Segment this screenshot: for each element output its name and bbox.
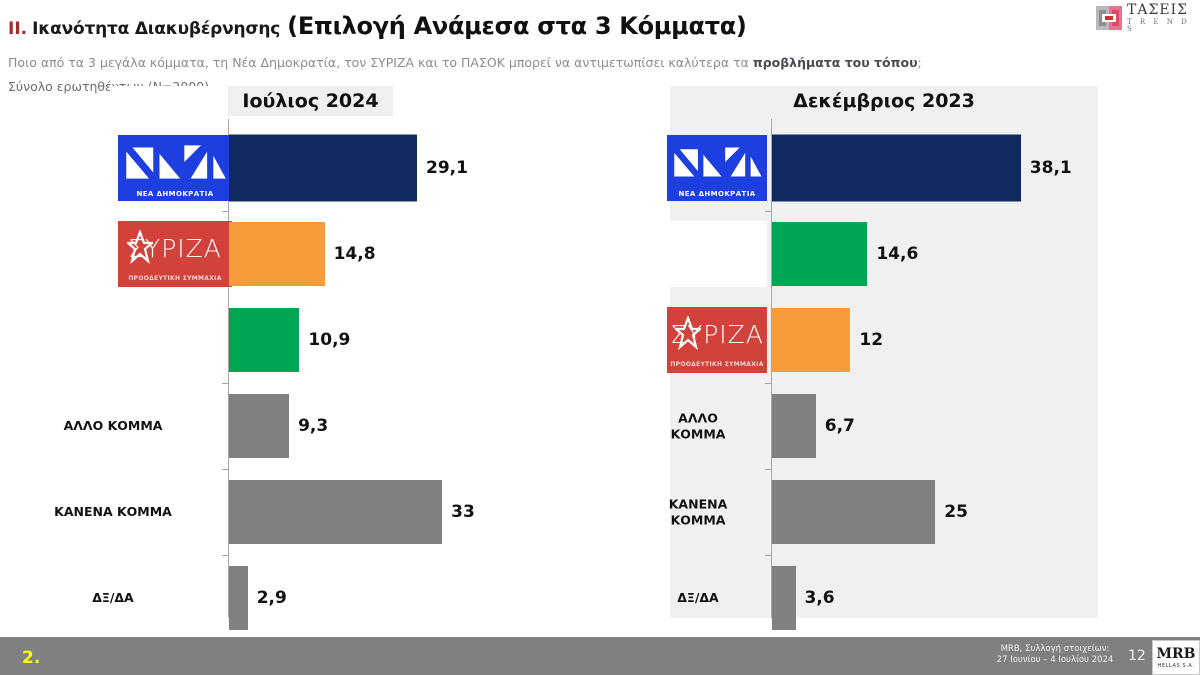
syriza-logo-subtitle: ΠΡΟΟΔΕΥΤΙΚΗ ΣΥΜΜΑΧΙΑ	[118, 275, 232, 282]
question-part2: ;	[918, 55, 922, 70]
chart-row: ΣΥΡΙΖΑΠΡΟΟΔΕΥΤΙΚΗ ΣΥΜΜΑΧΙΑ14,8	[110, 211, 625, 297]
source-line-2: 27 Ιουνίου – 4 Ιουλίου 2024	[985, 655, 1125, 666]
party-logo-box: ΣΥΡΙΖΑΠΡΟΟΔΕΥΤΙΚΗ ΣΥΜΜΑΧΙΑ	[118, 221, 232, 287]
axis-tick	[222, 469, 229, 470]
bar	[772, 222, 867, 286]
axis-tick	[222, 555, 229, 556]
mrb-logo-name: MRB	[1157, 647, 1196, 661]
brand-name: ΤΑΣΕΙΣ	[1127, 3, 1196, 17]
bar-value-label: 29,1	[426, 158, 468, 178]
category-label: ΔΞ/ΔΑ	[630, 590, 766, 606]
nd-logo-caption: ΝΕΑ ΔΗΜΟΚΡΑΤΙΑ	[667, 190, 767, 198]
bar-value-label: 33	[451, 502, 475, 522]
page-title: II. Ικανότητα Διακυβέρνησης (Επιλογή Ανά…	[8, 12, 747, 40]
slide-root: ΤΑΣΕΙΣ T R E N D S II. Ικανότητα Διακυβέ…	[0, 0, 1200, 675]
chart-row: ΣΥΡΙΖΑΠΡΟΟΔΕΥΤΙΚΗ ΣΥΜΜΑΧΙΑ12	[670, 297, 1098, 383]
bar-value-label: 9,3	[298, 416, 328, 436]
party-logo-box: ΝΕΑ ΔΗΜΟΚΡΑΤΙΑ	[667, 135, 767, 201]
panel-title-december-2023: Δεκέμβριος 2023	[670, 86, 1098, 116]
slide-number: 2.	[22, 648, 40, 668]
party-logo-placeholder	[667, 221, 767, 287]
bar	[229, 566, 248, 630]
nd-emblem-icon	[667, 135, 767, 189]
axis-tick	[222, 383, 229, 384]
party-logo-box	[667, 221, 767, 287]
chart-row: ΚΑΝΕΝΑ ΚΟΜΜΑ33	[110, 469, 625, 555]
nd-logo-caption: ΝΕΑ ΔΗΜΟΚΡΑΤΙΑ	[118, 190, 232, 198]
source-line-1: MRB, Συλλογή στοιχείων:	[985, 644, 1125, 655]
section-number: II.	[8, 19, 27, 39]
chart-row: 10,9	[110, 297, 625, 383]
bar-value-label: 14,6	[876, 244, 918, 264]
bar-value-label: 25	[944, 502, 968, 522]
bar	[229, 222, 325, 286]
bar-value-label: 3,6	[805, 588, 835, 608]
nea-dimokratia-logo: ΝΕΑ ΔΗΜΟΚΡΑΤΙΑ	[667, 135, 767, 201]
bar-value-label: 38,1	[1030, 158, 1072, 178]
question-emphasis: προβλήματα του τόπου	[753, 55, 918, 70]
bar	[772, 394, 816, 458]
bar	[772, 566, 796, 630]
source-note: MRB, Συλλογή στοιχείων: 27 Ιουνίου – 4 Ι…	[985, 644, 1125, 667]
nea-dimokratia-logo: ΝΕΑ ΔΗΜΟΚΡΑΤΙΑ	[118, 135, 232, 201]
bar	[229, 394, 289, 458]
bar	[772, 480, 935, 544]
syriza-logo: ΣΥΡΙΖΑΠΡΟΟΔΕΥΤΙΚΗ ΣΥΜΜΑΧΙΑ	[667, 307, 767, 373]
axis-tick	[765, 211, 772, 212]
syriza-logo: ΣΥΡΙΖΑΠΡΟΟΔΕΥΤΙΚΗ ΣΥΜΜΑΧΙΑ	[118, 221, 232, 287]
category-label: ΚΑΝΕΝΑ ΚΟΜΜΑ	[2, 504, 224, 520]
syriza-logo-word: ΣΥΡΙΖΑ	[667, 320, 767, 349]
party-logo-box: ΝΕΑ ΔΗΜΟΚΡΑΤΙΑ	[118, 135, 232, 201]
chart-row: ΚΑΝΕΝΑΚΟΜΜΑ25	[670, 469, 1098, 555]
chart-row: ΑΛΛΟΚΟΜΜΑ6,7	[670, 383, 1098, 469]
bar	[229, 480, 442, 544]
question-part1: Ποιο από τα 3 μεγάλα κόμματα, τη Νέα Δημ…	[8, 55, 753, 70]
party-logo-box: ΣΥΡΙΖΑΠΡΟΟΔΕΥΤΙΚΗ ΣΥΜΜΑΧΙΑ	[667, 307, 767, 373]
bar-value-label: 2,9	[257, 588, 287, 608]
panel-july-2024: Ιούλιος 2024 ΝΕΑ ΔΗΜΟΚΡΑΤΙΑ29,1ΣΥΡΙΖΑΠΡΟ…	[110, 86, 625, 618]
panel-title-july-2024: Ιούλιος 2024	[228, 86, 393, 116]
syriza-logo-word: ΣΥΡΙΖΑ	[118, 234, 232, 263]
chart-row: ΔΞ/ΔΑ3,6	[670, 555, 1098, 641]
bar-value-label: 6,7	[825, 416, 855, 436]
nd-emblem-icon	[118, 135, 232, 189]
chart-row: 14,6	[670, 211, 1098, 297]
chart-row: ΔΞ/ΔΑ2,9	[110, 555, 625, 641]
bar-value-label: 10,9	[308, 330, 350, 350]
chart-row: ΑΛΛΟ ΚΟΜΜΑ9,3	[110, 383, 625, 469]
category-label: ΑΛΛΟΚΟΜΜΑ	[630, 410, 766, 441]
category-label: ΑΛΛΟ ΚΟΜΜΑ	[2, 418, 224, 434]
question-text: Ποιο από τα 3 μεγάλα κόμματα, τη Νέα Δημ…	[8, 55, 922, 70]
category-label: ΚΑΝΕΝΑΚΟΜΜΑ	[630, 496, 766, 527]
chart-row: ΝΕΑ ΔΗΜΟΚΡΑΤΙΑ38,1	[670, 125, 1098, 211]
axis-tick	[765, 469, 772, 470]
bar	[229, 308, 299, 372]
mrb-logo-sub: HELLAS S.A.	[1157, 663, 1194, 669]
bar	[229, 135, 417, 202]
title-parenthetical: (Επιλογή Ανάμεσα στα 3 Κόμματα)	[287, 12, 746, 40]
page-number: 12	[1128, 648, 1146, 664]
plot-area-july-2024: ΝΕΑ ΔΗΜΟΚΡΑΤΙΑ29,1ΣΥΡΙΖΑΠΡΟΟΔΕΥΤΙΚΗ ΣΥΜΜ…	[110, 119, 625, 618]
bar-value-label: 12	[859, 330, 883, 350]
tasis-squares-icon	[1096, 6, 1122, 30]
bar	[772, 308, 850, 372]
bar	[772, 135, 1021, 202]
category-label: ΔΞ/ΔΑ	[2, 590, 224, 606]
chart-row: ΝΕΑ ΔΗΜΟΚΡΑΤΙΑ29,1	[110, 125, 625, 211]
syriza-logo-subtitle: ΠΡΟΟΔΕΥΤΙΚΗ ΣΥΜΜΑΧΙΑ	[667, 361, 767, 368]
mrb-logo: MRB HELLAS S.A.	[1152, 640, 1200, 675]
axis-tick	[765, 383, 772, 384]
panel-december-2023: Δεκέμβριος 2023 ΝΕΑ ΔΗΜΟΚΡΑΤΙΑ38,114,6ΣΥ…	[670, 86, 1098, 618]
axis-tick	[765, 555, 772, 556]
title-main: Ικανότητα Διακυβέρνησης	[32, 19, 280, 39]
tasis-trends-logo: ΤΑΣΕΙΣ T R E N D S	[1096, 2, 1196, 34]
axis-tick	[222, 211, 229, 212]
bar-value-label: 14,8	[334, 244, 376, 264]
plot-area-december-2023: ΝΕΑ ΔΗΜΟΚΡΑΤΙΑ38,114,6ΣΥΡΙΖΑΠΡΟΟΔΕΥΤΙΚΗ …	[670, 119, 1098, 618]
brand-subtitle: T R E N D S	[1127, 19, 1196, 33]
